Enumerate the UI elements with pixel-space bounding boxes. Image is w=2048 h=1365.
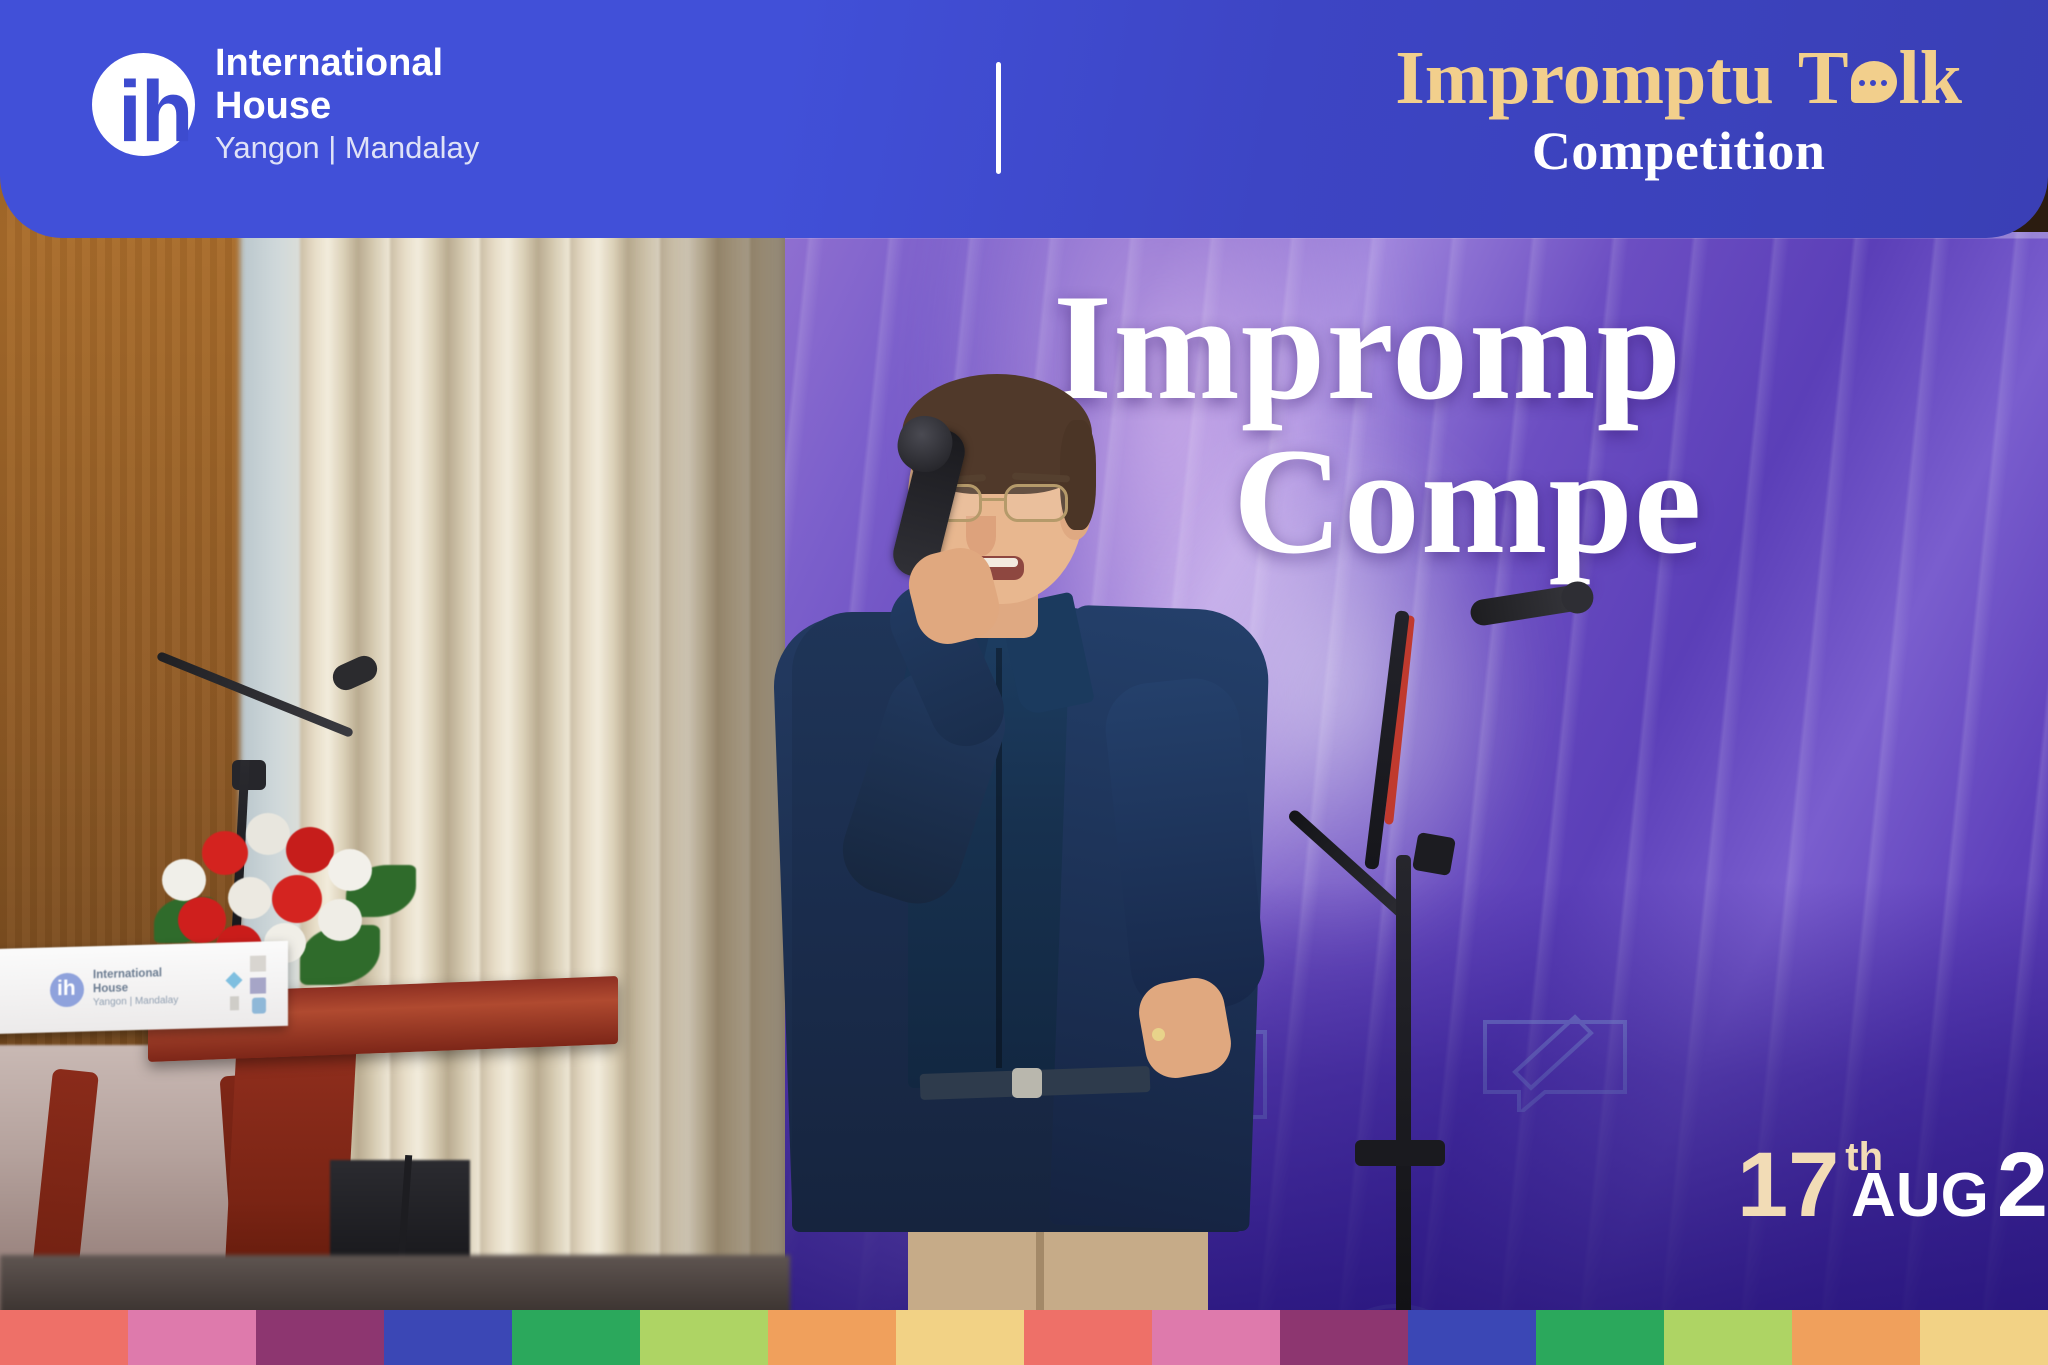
speaker-person (760, 380, 1280, 1312)
backdrop-event-date: 17 th AUG 2 (1737, 1146, 2048, 1224)
event-subtitle: Competition (1395, 120, 1962, 182)
date-day: 17 (1737, 1146, 1839, 1224)
event-title-lockup: Impromptu T lk Competition (1395, 40, 1962, 182)
brand-line-2: House (215, 85, 479, 128)
color-strip-block (1408, 1310, 1536, 1365)
color-strip-block (768, 1310, 896, 1365)
podium-sign-text: International House Yangon | Mandalay (93, 966, 178, 1010)
color-strip-block (1664, 1310, 1792, 1365)
ih-brand-text: International House Yangon | Mandalay (215, 42, 479, 168)
brand-line-1: International (215, 42, 479, 85)
event-word-talk-prefix: T (1798, 40, 1849, 116)
event-title-line: Impromptu T lk (1395, 40, 1962, 116)
event-photo-card: Impromp Compe A+ (0, 0, 2048, 1365)
color-strip-block (1792, 1310, 1920, 1365)
speaker-ring (1152, 1028, 1165, 1041)
ih-brand-lockup: ih International House Yangon | Mandalay (92, 42, 479, 168)
podium-sign-ih-logo-icon (50, 972, 84, 1007)
color-strip-block (384, 1310, 512, 1365)
ih-logo-mark: ih (118, 69, 192, 155)
stage-microphone-base (1355, 1140, 1445, 1166)
brand-color-strip (0, 1310, 2048, 1365)
color-strip-block (0, 1310, 128, 1365)
color-strip-block (128, 1310, 256, 1365)
podium-sign-decoration (228, 955, 274, 1014)
speaker-belt-buckle (1012, 1068, 1042, 1098)
podium-sign-line3: Yangon | Mandalay (93, 995, 178, 1010)
glasses-lens-right (1004, 484, 1068, 522)
color-strip-block (1536, 1310, 1664, 1365)
stage-microphone-joint (1412, 832, 1456, 876)
color-strip-block (1280, 1310, 1408, 1365)
color-strip-block (256, 1310, 384, 1365)
date-year: 2 (1997, 1146, 2048, 1224)
backdrop-title-line2: Compe (1233, 424, 1702, 579)
floor-edge (0, 1255, 790, 1312)
branding-header-bar: ih International House Yangon | Mandalay… (0, 0, 2048, 238)
color-strip-block (640, 1310, 768, 1365)
color-strip-block (896, 1310, 1024, 1365)
header-divider (996, 62, 1001, 174)
podium-branding-sign: International House Yangon | Mandalay (0, 941, 288, 1034)
color-strip-block (1152, 1310, 1280, 1365)
color-strip-block (1920, 1310, 2048, 1365)
ih-logo-icon: ih (92, 53, 195, 156)
date-ordinal: th (1845, 1135, 1883, 1180)
brand-line-3: Yangon | Mandalay (215, 129, 479, 168)
color-strip-block (1024, 1310, 1152, 1365)
glasses-bridge (982, 498, 1004, 501)
event-word-impromptu: Impromptu (1395, 40, 1774, 116)
event-word-talk-suffix: lk (1899, 40, 1962, 116)
stage-microphone-pole (1396, 855, 1411, 1312)
speech-bubble-icon (1851, 61, 1897, 107)
color-strip-block (512, 1310, 640, 1365)
